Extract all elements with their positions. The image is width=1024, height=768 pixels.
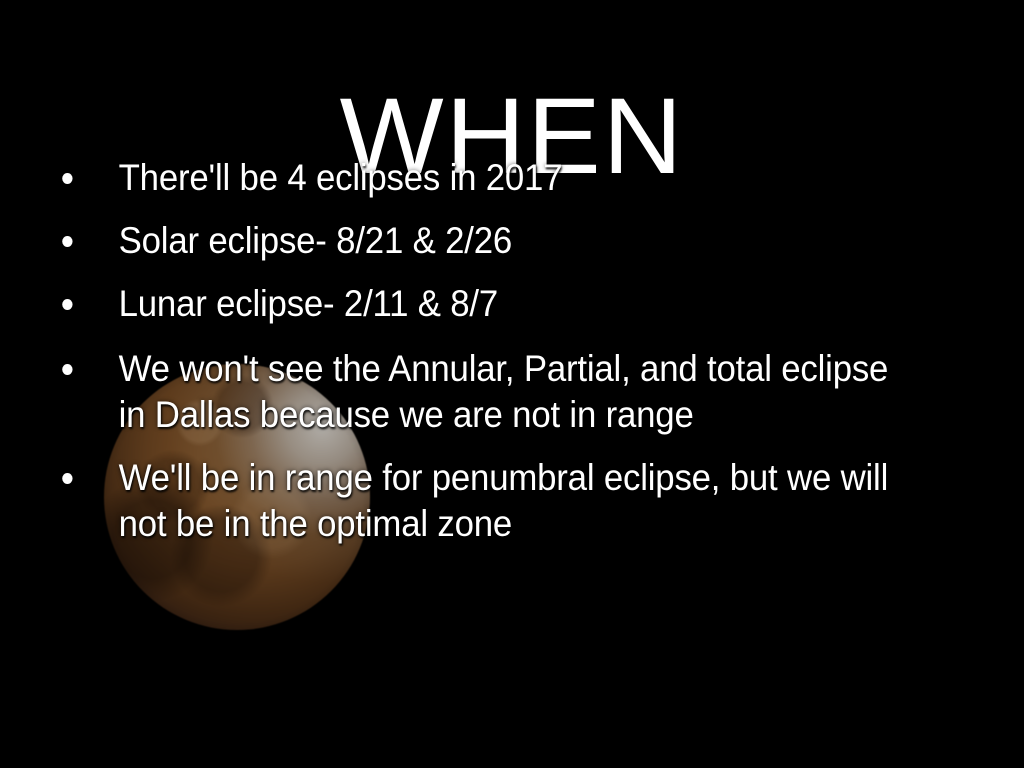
bullet-dot-icon xyxy=(62,299,72,310)
list-item: Solar eclipse- 8/21 & 2/26 xyxy=(50,218,896,264)
list-item: We'll be in range for penumbral eclipse,… xyxy=(50,455,896,547)
bullet-dot-icon xyxy=(62,364,72,375)
list-item: There'll be 4 eclipses in 2017 xyxy=(50,155,896,201)
list-item-label: Lunar eclipse- 2/11 & 8/7 xyxy=(119,281,896,327)
list-item-label: We'll be in range for penumbral eclipse,… xyxy=(119,455,896,547)
list-item-label: Solar eclipse- 8/21 & 2/26 xyxy=(119,218,896,264)
list-item: Lunar eclipse- 2/11 & 8/7 xyxy=(50,281,896,327)
list-item-label: We won't see the Annular, Partial, and t… xyxy=(119,346,896,438)
bullet-dot-icon xyxy=(62,236,72,247)
slide-content: WHEN There'll be 4 eclipses in 2017 Sola… xyxy=(0,0,1024,768)
bullet-list: There'll be 4 eclipses in 2017 Solar ecl… xyxy=(50,155,950,547)
list-item-label: There'll be 4 eclipses in 2017 xyxy=(119,155,896,201)
bullet-dot-icon xyxy=(62,473,72,484)
list-item: We won't see the Annular, Partial, and t… xyxy=(50,346,896,438)
bullet-dot-icon xyxy=(62,173,72,184)
presentation-slide: WHEN There'll be 4 eclipses in 2017 Sola… xyxy=(0,0,1024,768)
